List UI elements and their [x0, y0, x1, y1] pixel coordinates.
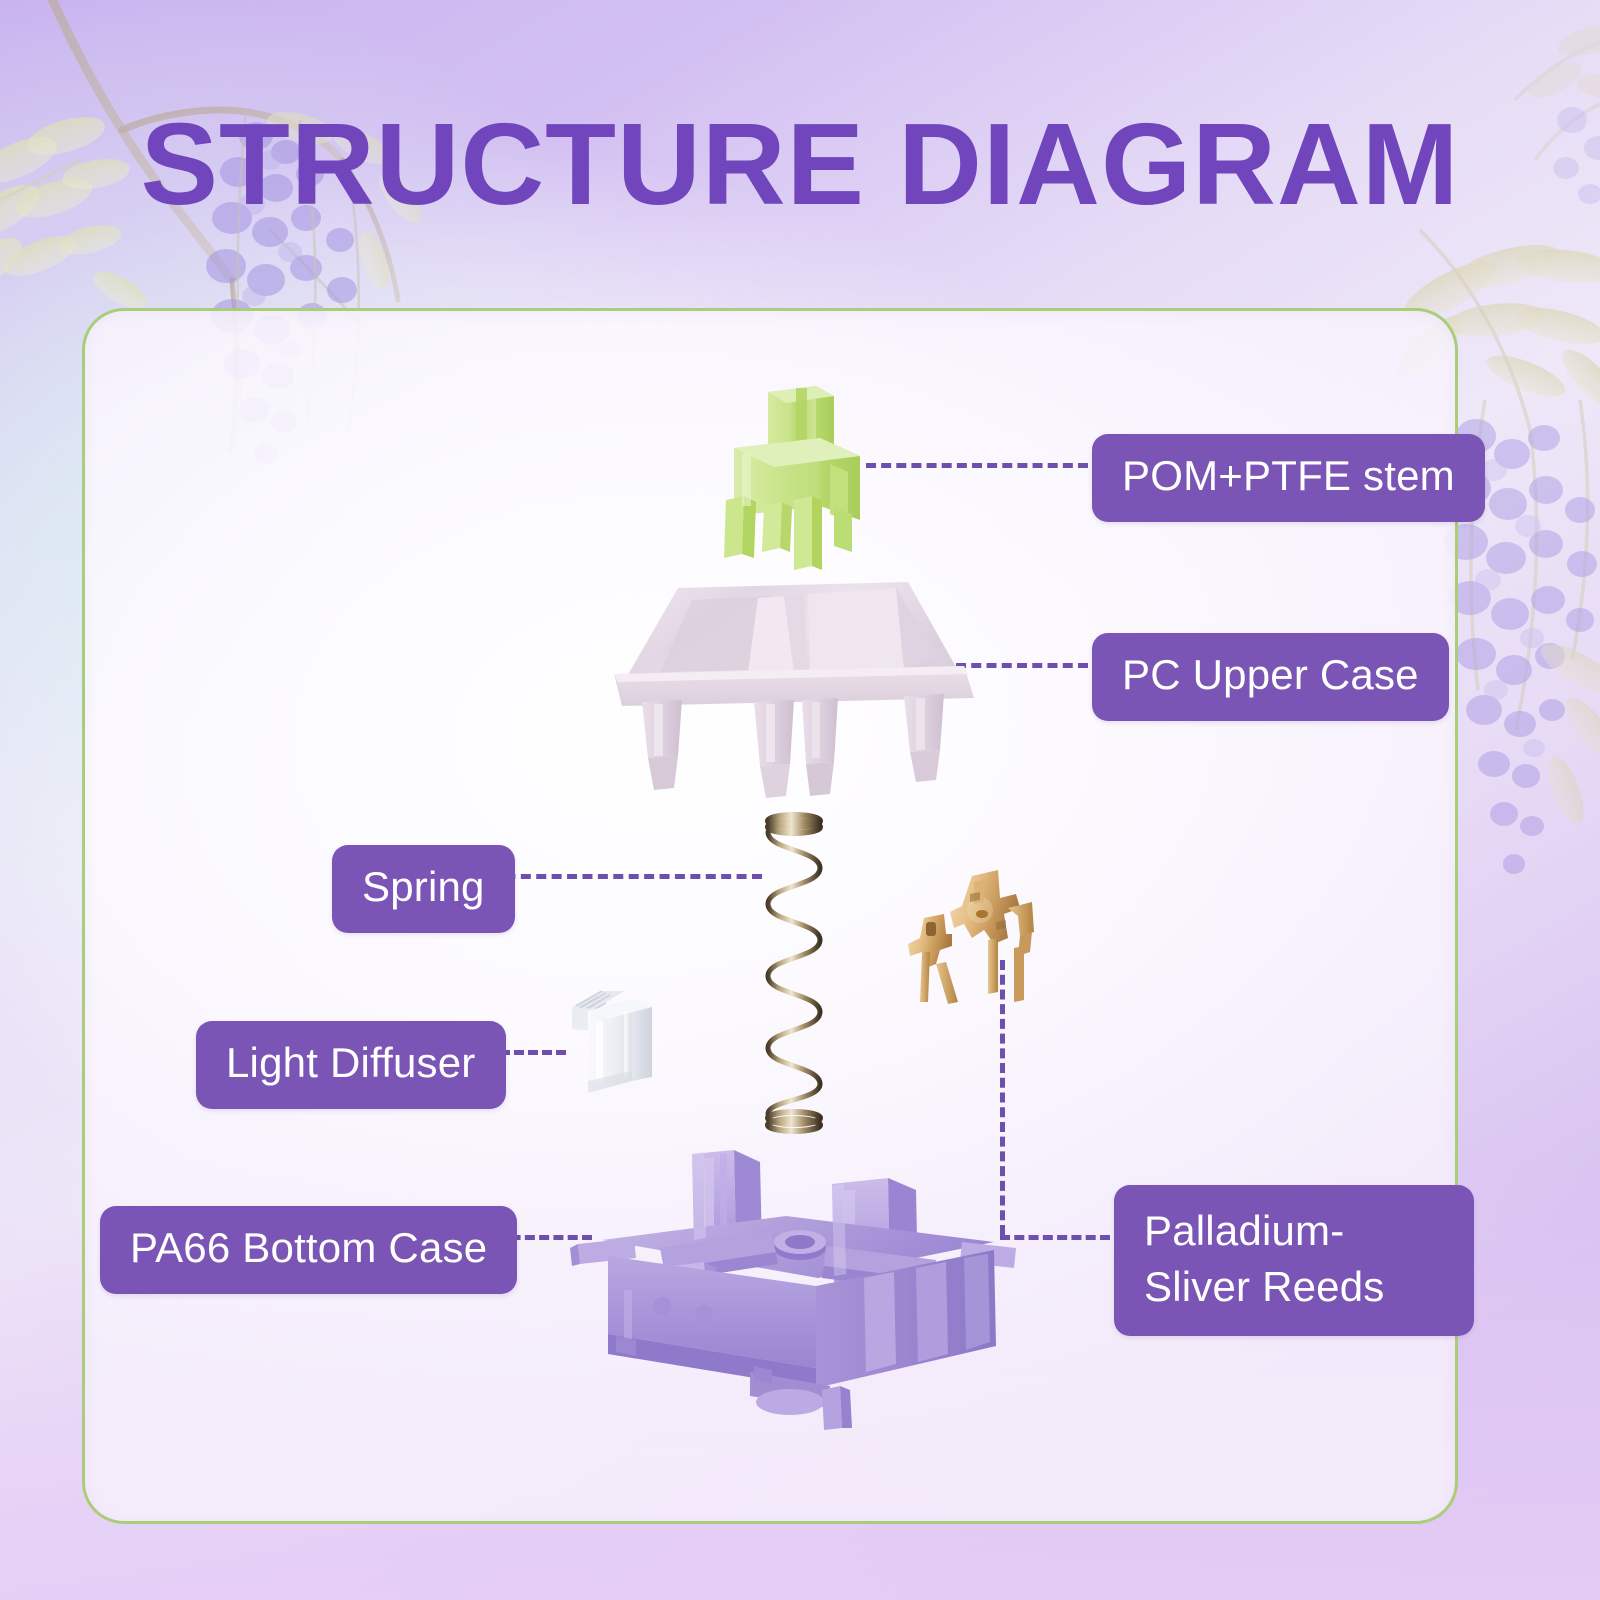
page-title: STRUCTURE DIAGRAM — [0, 104, 1600, 226]
structure-diagram-page: STRUCTURE DIAGRAM POM+PTFE stem PC Upper… — [0, 0, 1600, 1600]
part-pa66-bottom-case — [564, 1140, 1034, 1430]
connector-spring — [490, 874, 762, 879]
label-light-diffuser[interactable]: Light Diffuser — [196, 1021, 506, 1109]
label-pc-upper-case[interactable]: PC Upper Case — [1092, 633, 1449, 721]
label-spring[interactable]: Spring — [332, 845, 515, 933]
part-palladium-sliver-reeds — [888, 852, 1038, 1004]
part-spring — [758, 812, 830, 1134]
label-pa66-bottom-case[interactable]: PA66 Bottom Case — [100, 1206, 517, 1294]
part-pom-ptfe-stem — [712, 380, 882, 570]
part-pc-upper-case — [608, 578, 980, 798]
part-light-diffuser — [566, 985, 658, 1097]
connector-stem — [866, 463, 1088, 468]
label-palladium-sliver-reeds[interactable]: Palladium-Sliver Reeds — [1114, 1185, 1474, 1336]
label-pom-ptfe-stem[interactable]: POM+PTFE stem — [1092, 434, 1485, 522]
